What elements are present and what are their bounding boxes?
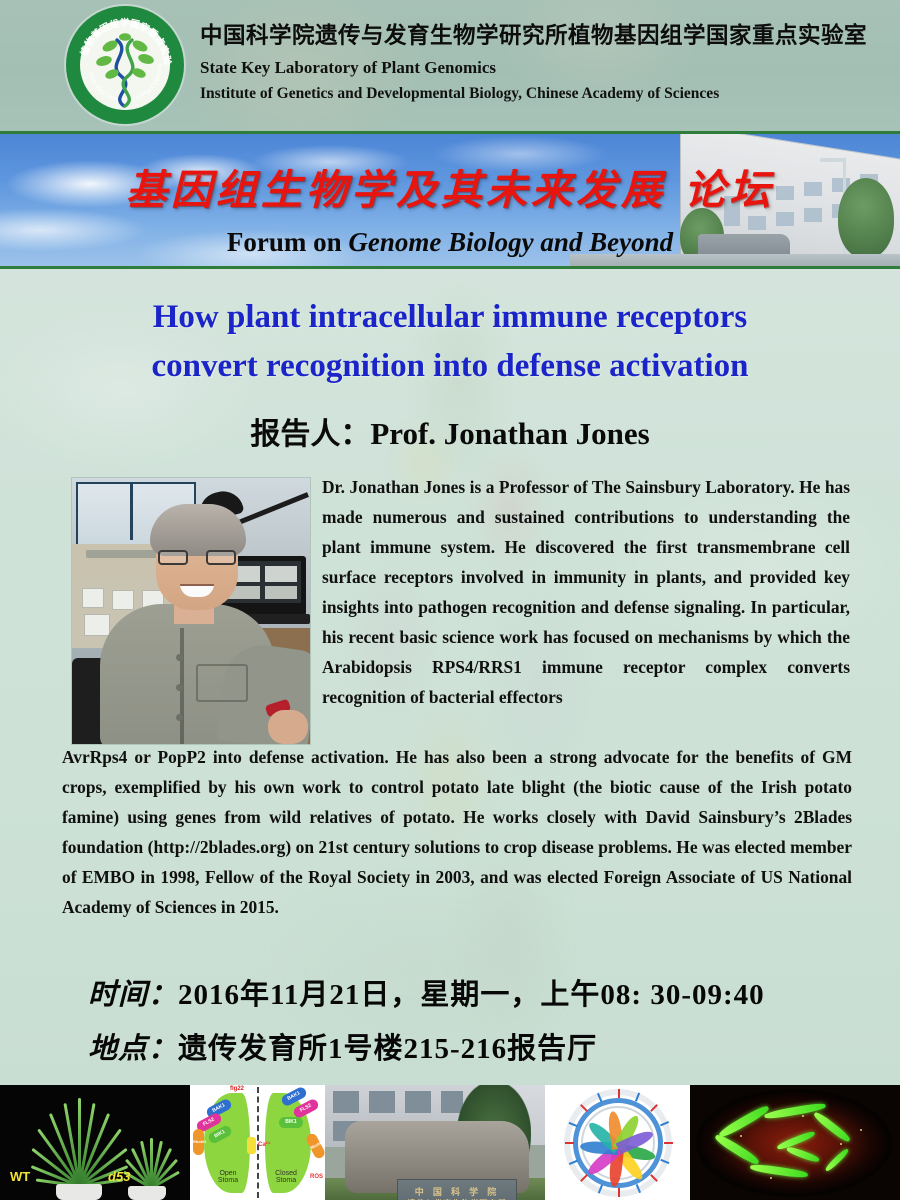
forum-banner: 基因组生物学及其未来发展 论坛 Forum on Genome Biology …	[0, 131, 900, 269]
talk-title-line-1: How plant intracellular immune receptors	[0, 293, 900, 342]
speaker-label: 报告人：	[250, 417, 370, 452]
pot-wt	[56, 1184, 102, 1200]
poster-header: 植物基因组学国家重点实验室 State Key Laboratory of Pl…	[0, 0, 900, 131]
ligand-flg22: flg22	[230, 1086, 244, 1092]
ros-label: ROS	[310, 1174, 323, 1180]
fluorescence-image-panel	[690, 1085, 900, 1200]
protein-bik1-right: BIK1	[279, 1117, 303, 1128]
event-time-label: 时间：	[88, 977, 178, 1011]
logo-graphic: 植物基因组学国家重点实验室 State Key Laboratory of Pl…	[66, 6, 184, 124]
stomata-diagram-panel: BAK1 FLS2 RbohD BIK1 BAK1 FLS2 BIK1 Rboh…	[190, 1085, 325, 1200]
seminar-poster: 植物基因组学国家重点实验室 State Key Laboratory of Pl…	[0, 0, 900, 1200]
speaker-name: Prof. Jonathan Jones	[370, 416, 649, 451]
talk-title-line-2: convert recognition into defense activat…	[0, 342, 900, 391]
stone-marker: 中 国 科 学 院 遗传与发育生物学研究所 Institute of Genet…	[345, 1121, 529, 1193]
poster-body: How plant intracellular immune receptors…	[0, 269, 900, 1085]
institute-stone-panel: 中 国 科 学 院 遗传与发育生物学研究所 Institute of Genet…	[325, 1085, 545, 1200]
dna-strand-green	[123, 40, 133, 106]
event-place-value: 遗传发育所1号楼215-216报告厅	[178, 1033, 597, 1065]
forum-title-en: Forum on Genome Biology and Beyond	[0, 227, 900, 258]
rice-phenotype-panel: WT d53	[0, 1085, 190, 1200]
forum-title-en-prefix: Forum on	[227, 227, 349, 257]
speaker-bio-wrapped: Dr. Jonathan Jones is a Professor of The…	[322, 472, 850, 712]
header-title-en-institute: Institute of Genetics and Developmental …	[200, 85, 867, 103]
event-place: 地点：遗传发育所1号楼215-216报告厅	[88, 1025, 597, 1067]
event-place-label: 地点：	[88, 1031, 178, 1065]
calcium-label: Ca²⁺	[258, 1141, 271, 1148]
footer-image-strip: WT d53 BAK1 FLS2 RbohD BIK1 BAK1 FLS2 BI…	[0, 1085, 900, 1200]
state-key-lab-logo: 植物基因组学国家重点实验室 State Key Laboratory of Pl…	[66, 6, 184, 124]
speaker-bio-continued: AvrRps4 or PopP2 into defense activation…	[62, 742, 852, 922]
header-text-block: 中国科学院遗传与发育生物学研究所植物基因组学国家重点实验室 State Key …	[200, 24, 867, 103]
protein-rbohd-left: RbohD	[193, 1129, 204, 1155]
header-title-cn: 中国科学院遗传与发育生物学研究所植物基因组学国家重点实验室	[200, 24, 867, 49]
rice-label-wt: WT	[10, 1169, 30, 1184]
pot-d53	[128, 1186, 166, 1200]
open-stoma-label: OpenStoma	[206, 1170, 250, 1184]
event-time-value: 2016年11月21日，星期一，上午08: 30-09:40	[178, 979, 765, 1011]
leaf-cluster	[95, 33, 155, 80]
circos-plot-panel	[545, 1085, 690, 1200]
closed-stoma-label: ClosedStoma	[263, 1170, 309, 1184]
stone-line-1: 中 国 科 学 院	[398, 1185, 516, 1198]
forum-title-cn: 基因组生物学及其未来发展 论坛	[0, 156, 900, 216]
speaker-line: 报告人：Prof. Jonathan Jones	[0, 409, 900, 453]
rice-label-d53: d53	[108, 1169, 130, 1184]
forum-title-en-emphasis: Genome Biology and Beyond	[348, 227, 673, 257]
talk-title: How plant intracellular immune receptors…	[0, 293, 900, 391]
event-time: 时间：2016年11月21日，星期一，上午08: 30-09:40	[88, 971, 765, 1013]
circos-plot	[564, 1089, 672, 1197]
header-title-en-lab: State Key Laboratory of Plant Genomics	[200, 58, 867, 78]
stone-plaque: 中 国 科 学 院 遗传与发育生物学研究所 Institute of Genet…	[397, 1179, 517, 1200]
speaker-portrait	[72, 478, 310, 744]
calcium-channel	[247, 1137, 256, 1154]
